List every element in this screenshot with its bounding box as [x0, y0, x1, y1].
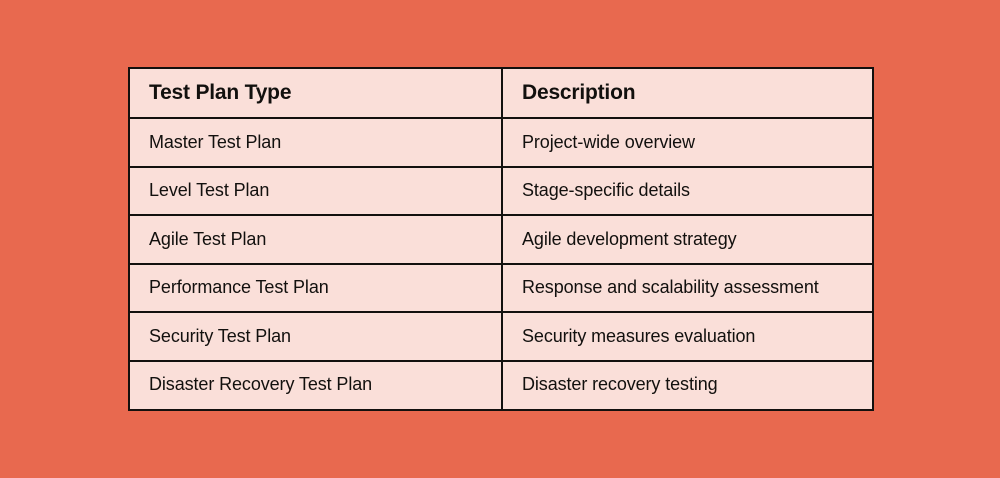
column-header-label: Description — [522, 80, 872, 105]
cell-description: Response and scalability assessment — [502, 264, 873, 313]
cell-description: Project-wide overview — [502, 118, 873, 167]
table-header-row: Test Plan Type Description — [129, 68, 873, 118]
test-plan-table-container: Test Plan Type Description Master Test P… — [128, 67, 872, 409]
table-row: Master Test Plan Project-wide overview — [129, 118, 873, 167]
cell-test-plan-type: Master Test Plan — [129, 118, 502, 167]
cell-description: Security measures evaluation — [502, 312, 873, 361]
cell-description: Agile development strategy — [502, 215, 873, 264]
cell-text: Level Test Plan — [149, 180, 501, 202]
cell-text: Project-wide overview — [522, 132, 872, 154]
cell-text: Disaster recovery testing — [522, 374, 872, 396]
cell-text: Security measures evaluation — [522, 326, 872, 348]
column-header-label: Test Plan Type — [149, 80, 501, 105]
cell-description: Stage-specific details — [502, 167, 873, 216]
cell-test-plan-type: Security Test Plan — [129, 312, 502, 361]
table-header: Test Plan Type Description — [129, 68, 873, 118]
table-row: Level Test Plan Stage-specific details — [129, 167, 873, 216]
table-body: Master Test Plan Project-wide overview L… — [129, 118, 873, 410]
table-row: Disaster Recovery Test Plan Disaster rec… — [129, 361, 873, 410]
cell-text: Security Test Plan — [149, 326, 501, 348]
cell-test-plan-type: Disaster Recovery Test Plan — [129, 361, 502, 410]
cell-text: Performance Test Plan — [149, 277, 501, 299]
cell-text: Agile development strategy — [522, 229, 872, 251]
cell-test-plan-type: Performance Test Plan — [129, 264, 502, 313]
cell-text: Master Test Plan — [149, 132, 501, 154]
cell-text: Stage-specific details — [522, 180, 872, 202]
column-header-description: Description — [502, 68, 873, 118]
page-canvas: Test Plan Type Description Master Test P… — [0, 0, 1000, 478]
cell-text: Disaster Recovery Test Plan — [149, 374, 501, 396]
cell-description: Disaster recovery testing — [502, 361, 873, 410]
table-row: Agile Test Plan Agile development strate… — [129, 215, 873, 264]
cell-test-plan-type: Level Test Plan — [129, 167, 502, 216]
test-plan-table: Test Plan Type Description Master Test P… — [128, 67, 874, 411]
column-header-test-plan-type: Test Plan Type — [129, 68, 502, 118]
cell-text: Response and scalability assessment — [522, 277, 872, 299]
table-row: Performance Test Plan Response and scala… — [129, 264, 873, 313]
table-row: Security Test Plan Security measures eva… — [129, 312, 873, 361]
cell-text: Agile Test Plan — [149, 229, 501, 251]
cell-test-plan-type: Agile Test Plan — [129, 215, 502, 264]
